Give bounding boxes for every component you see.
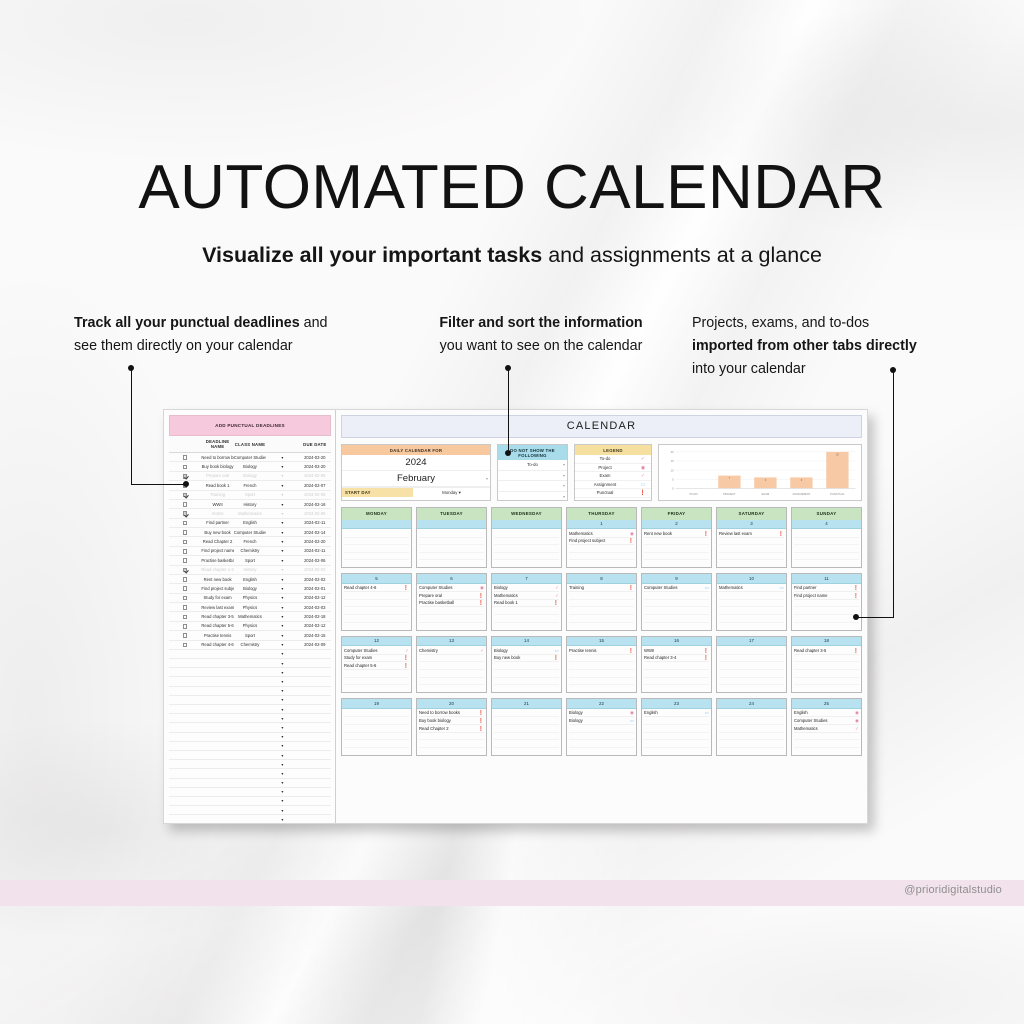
table-row[interactable]: Review last examPhysics▾2024-02-03: [169, 603, 331, 612]
day-cell[interactable]: 12Computer Studies✓Study for exam❗Read c…: [341, 636, 412, 694]
dropdown-icon[interactable]: ▾: [563, 471, 565, 482]
day-cell[interactable]: 23English▭: [641, 698, 712, 756]
row-dropdown-icon[interactable]: ▾: [266, 453, 298, 462]
row-dropdown-icon[interactable]: ▾: [266, 649, 298, 658]
row-dropdown-icon[interactable]: ▾: [266, 481, 298, 490]
row-dropdown-icon[interactable]: ▾: [266, 787, 298, 796]
event-blank[interactable]: [344, 538, 409, 546]
event-text: Computer Studies: [794, 717, 851, 725]
do-not-show-row-1[interactable]: ▾: [498, 471, 567, 482]
table-row-empty[interactable]: ▾: [169, 686, 331, 695]
row-checkbox-cell[interactable]: [169, 499, 201, 508]
event-blank[interactable]: [494, 662, 559, 670]
row-dropdown-icon[interactable]: ▾: [266, 640, 298, 649]
event-blank[interactable]: [494, 607, 559, 615]
row-checkbox-cell[interactable]: [169, 741, 201, 750]
do-not-show-row-2[interactable]: ▾: [498, 481, 567, 492]
table-row[interactable]: Find partnerEnglish▾2024-02-11: [169, 518, 331, 527]
table-row[interactable]: Read chapter 4-6Chemistry▾2024-02-09: [169, 640, 331, 649]
event-blank[interactable]: [419, 662, 484, 670]
table-row[interactable]: Buy new bookComputer Studies▾2024-02-14: [169, 528, 331, 537]
day-cell[interactable]: 22Biology◉Biology▭: [566, 698, 637, 756]
table-row-empty[interactable]: ▾: [169, 659, 331, 668]
event-blank[interactable]: [794, 678, 859, 686]
row-dropdown-icon[interactable]: ▾: [266, 677, 298, 686]
row-dropdown-icon[interactable]: ▾: [266, 806, 298, 815]
event-blank[interactable]: [419, 740, 484, 748]
calendar-event[interactable]: Read chapter 5-6❗: [344, 662, 409, 670]
row-checkbox-cell[interactable]: [169, 778, 201, 787]
row-checkbox-cell[interactable]: [169, 490, 201, 499]
day-cell[interactable]: 7Biology✓Mathematics✓Read book 1❗: [491, 573, 562, 631]
event-blank[interactable]: [419, 670, 484, 678]
row-checkbox-cell[interactable]: [169, 787, 201, 796]
checkbox-icon[interactable]: [183, 643, 188, 648]
event-blank[interactable]: [494, 710, 559, 718]
event-blank[interactable]: [344, 530, 409, 538]
table-row-empty[interactable]: ▾: [169, 714, 331, 723]
event-blank[interactable]: [719, 545, 784, 553]
event-blank[interactable]: [569, 607, 634, 615]
event-blank[interactable]: [644, 592, 709, 600]
event-blank[interactable]: [344, 710, 409, 718]
event-blank[interactable]: [719, 615, 784, 623]
event-blank[interactable]: [344, 615, 409, 623]
day-cell[interactable]: 19: [341, 698, 412, 756]
checkbox-icon[interactable]: [183, 511, 188, 516]
table-row-empty[interactable]: ▾: [169, 787, 331, 796]
table-row[interactable]: Read chapter 3-5Mathematics▾2024-02-18: [169, 612, 331, 621]
daily-year-field[interactable]: 2024: [342, 455, 490, 471]
table-row-empty[interactable]: ▾: [169, 649, 331, 658]
event-blank[interactable]: [719, 655, 784, 663]
day-cell[interactable]: 11Find partner❗Find project name❗: [791, 573, 862, 631]
event-blank[interactable]: [419, 545, 484, 553]
calendar-event[interactable]: Read chapter 3-5❗: [794, 647, 859, 655]
event-blank[interactable]: [494, 740, 559, 748]
row-checkbox-cell[interactable]: [169, 705, 201, 714]
checkbox-icon[interactable]: [183, 577, 188, 582]
row-dropdown-icon[interactable]: ▾: [266, 546, 298, 555]
row-dropdown-icon[interactable]: ▾: [266, 556, 298, 565]
calendar-event[interactable]: Read chapter 4-6❗: [344, 585, 409, 593]
day-cell[interactable]: 21: [491, 698, 562, 756]
event-blank[interactable]: [344, 733, 409, 741]
event-blank[interactable]: [419, 615, 484, 623]
event-blank[interactable]: [344, 670, 409, 678]
checkbox-icon[interactable]: [183, 521, 188, 526]
row-checkbox-cell[interactable]: [169, 649, 201, 658]
dropdown-icon[interactable]: ▾: [563, 492, 565, 502]
event-blank[interactable]: [494, 717, 559, 725]
row-dropdown-icon[interactable]: ▾: [266, 574, 298, 583]
dropdown-icon[interactable]: ▾: [563, 481, 565, 492]
event-blank[interactable]: [719, 538, 784, 546]
checkbox-icon[interactable]: [183, 474, 188, 479]
table-row-empty[interactable]: ▾: [169, 695, 331, 704]
row-dropdown-icon[interactable]: ▾: [266, 565, 298, 574]
event-blank[interactable]: [344, 545, 409, 553]
checkbox-icon[interactable]: [183, 624, 188, 629]
table-row-empty[interactable]: ▾: [169, 815, 331, 824]
row-checkbox-cell[interactable]: [169, 509, 201, 518]
day-cell[interactable]: TUESDAY: [416, 507, 487, 568]
calendar-event[interactable]: Read chapter 3-4❗: [644, 655, 709, 663]
row-dropdown-icon[interactable]: ▾: [266, 686, 298, 695]
table-row-empty[interactable]: ▾: [169, 778, 331, 787]
event-blank[interactable]: [794, 538, 859, 546]
row-dropdown-icon[interactable]: ▾: [266, 528, 298, 537]
table-row[interactable]: Practise basketballSport▾2024-02-06: [169, 556, 331, 565]
event-blank[interactable]: [494, 678, 559, 686]
calendar-event[interactable]: Practise basketball❗: [419, 600, 484, 608]
row-dropdown-icon[interactable]: ▾: [266, 695, 298, 704]
table-row[interactable]: Read chapter 1-2History▾2024-02-02: [169, 565, 331, 574]
table-row-empty[interactable]: ▾: [169, 668, 331, 677]
calendar-event[interactable]: Mathematics▭: [719, 585, 784, 593]
table-row[interactable]: Buy book biologyBiology▾2024-02-20: [169, 462, 331, 471]
checkbox-icon[interactable]: [183, 530, 188, 535]
row-dropdown-icon[interactable]: ▾: [266, 750, 298, 759]
day-cell[interactable]: THURSDAY1Mathematics◉Find project subjec…: [566, 507, 637, 568]
event-blank[interactable]: [719, 740, 784, 748]
day-cell[interactable]: SUNDAY4: [791, 507, 862, 568]
day-cell[interactable]: 25English◉Computer Studies◉Mathematics✓: [791, 698, 862, 756]
event-blank[interactable]: [719, 710, 784, 718]
row-dropdown-icon[interactable]: ▾: [266, 509, 298, 518]
table-row-empty[interactable]: ▾: [169, 806, 331, 815]
checkbox-icon[interactable]: [183, 493, 188, 498]
row-checkbox-cell[interactable]: [169, 760, 201, 769]
table-row-empty[interactable]: ▾: [169, 732, 331, 741]
event-blank[interactable]: [794, 615, 859, 623]
calendar-event[interactable]: Review last exam❗: [719, 530, 784, 538]
month-dropdown-icon[interactable]: ▾: [486, 471, 488, 487]
event-blank[interactable]: [569, 662, 634, 670]
day-cell[interactable]: WEDNESDAY: [491, 507, 562, 568]
row-checkbox-cell[interactable]: [169, 584, 201, 593]
event-blank[interactable]: [719, 607, 784, 615]
table-row[interactable]: AtomsMathematics▾2024-02-05: [169, 509, 331, 518]
checkbox-icon[interactable]: [183, 549, 188, 554]
table-row-empty[interactable]: ▾: [169, 760, 331, 769]
event-blank[interactable]: [794, 733, 859, 741]
event-blank[interactable]: [494, 670, 559, 678]
event-blank[interactable]: [494, 615, 559, 623]
table-row-empty[interactable]: ▾: [169, 723, 331, 732]
event-blank[interactable]: [569, 733, 634, 741]
event-blank[interactable]: [794, 530, 859, 538]
event-blank[interactable]: [344, 725, 409, 733]
calendar-event[interactable]: Find project subject❗: [569, 538, 634, 546]
event-blank[interactable]: [719, 600, 784, 608]
row-checkbox-cell[interactable]: [169, 631, 201, 640]
event-blank[interactable]: [794, 662, 859, 670]
row-due-date: 2024-02-18: [299, 612, 331, 621]
calendar-event[interactable]: Chemistry✓: [419, 647, 484, 655]
event-blank[interactable]: [419, 607, 484, 615]
row-checkbox-cell[interactable]: [169, 453, 201, 462]
day-cell[interactable]: 14Biology▭Buy new book❗: [491, 636, 562, 694]
event-blank[interactable]: [719, 592, 784, 600]
do-not-show-row-0[interactable]: To-do▾: [498, 460, 567, 471]
day-cell[interactable]: 5Read chapter 4-6❗: [341, 573, 412, 631]
row-checkbox-cell[interactable]: [169, 723, 201, 732]
event-blank[interactable]: [644, 662, 709, 670]
row-checkbox-cell[interactable]: [169, 593, 201, 602]
table-row[interactable]: Study for examPhysics▾2024-02-12: [169, 593, 331, 602]
daily-month-field[interactable]: February ▾: [342, 471, 490, 487]
event-blank[interactable]: [494, 545, 559, 553]
table-row-empty[interactable]: ▾: [169, 705, 331, 714]
table-row[interactable]: Find project nameChemistry▾2024-02-11: [169, 546, 331, 555]
day-cell[interactable]: 8Training❗: [566, 573, 637, 631]
calendar-event[interactable]: Practise tennis❗: [569, 647, 634, 655]
event-blank[interactable]: [644, 717, 709, 725]
row-dropdown-icon[interactable]: ▾: [266, 760, 298, 769]
event-blank[interactable]: [644, 553, 709, 561]
event-blank[interactable]: [719, 717, 784, 725]
calendar-event[interactable]: Biology▭: [569, 717, 634, 725]
table-row[interactable]: Rent new bookEnglish▾2024-02-02: [169, 574, 331, 583]
do-not-show-row-3[interactable]: ▾: [498, 492, 567, 502]
calendar-event[interactable]: English▭: [644, 710, 709, 718]
row-dropdown-icon[interactable]: ▾: [266, 631, 298, 640]
event-blank[interactable]: [569, 592, 634, 600]
row-dropdown-icon[interactable]: ▾: [266, 705, 298, 714]
event-blank[interactable]: [494, 733, 559, 741]
table-row-empty[interactable]: ▾: [169, 677, 331, 686]
row-checkbox-cell[interactable]: [169, 612, 201, 621]
row-dropdown-icon[interactable]: ▾: [266, 612, 298, 621]
event-blank[interactable]: [419, 655, 484, 663]
row-checkbox-cell[interactable]: [169, 621, 201, 630]
event-blank[interactable]: [794, 553, 859, 561]
event-blank[interactable]: [569, 553, 634, 561]
row-dropdown-icon[interactable]: ▾: [266, 584, 298, 593]
event-blank[interactable]: [569, 740, 634, 748]
event-blank[interactable]: [569, 678, 634, 686]
checkbox-icon[interactable]: [183, 596, 188, 601]
row-dropdown-icon[interactable]: ▾: [266, 490, 298, 499]
calendar-event[interactable]: Buy new book❗: [494, 655, 559, 663]
event-blank[interactable]: [344, 607, 409, 615]
event-blank[interactable]: [494, 553, 559, 561]
event-blank[interactable]: [569, 655, 634, 663]
row-checkbox-cell[interactable]: [169, 659, 201, 668]
row-checkbox-cell[interactable]: [169, 686, 201, 695]
day-cell[interactable]: 9Computer Studies▭: [641, 573, 712, 631]
table-row[interactable]: Prepare oralBiology▾2024-02-06: [169, 471, 331, 480]
event-blank[interactable]: [644, 615, 709, 623]
row-dropdown-icon[interactable]: ▾: [266, 714, 298, 723]
row-checkbox-cell[interactable]: [169, 796, 201, 805]
checkbox-icon[interactable]: [183, 502, 188, 507]
row-checkbox-cell[interactable]: [169, 769, 201, 778]
event-blank[interactable]: [644, 670, 709, 678]
row-dropdown-icon[interactable]: ▾: [266, 471, 298, 480]
row-checkbox-cell[interactable]: [169, 462, 201, 471]
event-blank[interactable]: [644, 740, 709, 748]
event-blank[interactable]: [644, 600, 709, 608]
day-cell[interactable]: 6Computer Studies◉Prepare oral❗Practise …: [416, 573, 487, 631]
event-blank[interactable]: [494, 530, 559, 538]
event-blank[interactable]: [344, 740, 409, 748]
day-cell[interactable]: 10Mathematics▭: [716, 573, 787, 631]
table-row[interactable]: Need to borrow booksComputer Studies▾202…: [169, 453, 331, 462]
table-row-empty[interactable]: ▾: [169, 750, 331, 759]
calendar-event[interactable]: Read book 1❗: [494, 600, 559, 608]
row-checkbox-cell[interactable]: [169, 732, 201, 741]
day-cell[interactable]: 16WWII❗Read chapter 3-4❗: [641, 636, 712, 694]
table-row-empty[interactable]: ▾: [169, 769, 331, 778]
row-checkbox-cell[interactable]: [169, 806, 201, 815]
day-cell[interactable]: 24: [716, 698, 787, 756]
row-checkbox-cell[interactable]: [169, 574, 201, 583]
row-dropdown-icon[interactable]: ▾: [266, 462, 298, 471]
day-cell[interactable]: FRIDAY2Rent new book❗: [641, 507, 712, 568]
calendar-event[interactable]: Rent new book❗: [644, 530, 709, 538]
event-blank[interactable]: [644, 607, 709, 615]
start-day-value[interactable]: Monday ▾: [413, 488, 490, 497]
checkbox-icon[interactable]: [183, 633, 188, 638]
event-blank[interactable]: [344, 553, 409, 561]
event-blank[interactable]: [644, 545, 709, 553]
row-dropdown-icon[interactable]: ▾: [266, 769, 298, 778]
day-cell[interactable]: 17: [716, 636, 787, 694]
table-row-empty[interactable]: ▾: [169, 741, 331, 750]
event-blank[interactable]: [419, 733, 484, 741]
event-blank[interactable]: [494, 538, 559, 546]
checkbox-icon[interactable]: [183, 558, 188, 563]
calendar-event[interactable]: Computer Studies▭: [644, 585, 709, 593]
event-blank[interactable]: [569, 600, 634, 608]
checkbox-icon[interactable]: [183, 568, 188, 573]
event-blank[interactable]: [419, 530, 484, 538]
row-checkbox-cell[interactable]: [169, 640, 201, 649]
row-dropdown-icon[interactable]: ▾: [266, 499, 298, 508]
row-checkbox-cell[interactable]: [169, 677, 201, 686]
event-blank[interactable]: [569, 615, 634, 623]
checkbox-icon[interactable]: [183, 465, 188, 470]
row-dropdown-icon[interactable]: ▾: [266, 593, 298, 602]
event-blank[interactable]: [644, 725, 709, 733]
row-dropdown-icon[interactable]: ▾: [266, 778, 298, 787]
checkbox-icon[interactable]: [183, 455, 188, 460]
row-dropdown-icon[interactable]: ▾: [266, 741, 298, 750]
event-blank[interactable]: [419, 678, 484, 686]
event-blank[interactable]: [494, 725, 559, 733]
row-dropdown-icon[interactable]: ▾: [266, 668, 298, 677]
event-blank[interactable]: [719, 670, 784, 678]
dropdown-icon[interactable]: ▾: [563, 460, 565, 471]
row-dropdown-icon[interactable]: ▾: [266, 603, 298, 612]
event-blank[interactable]: [569, 725, 634, 733]
table-row-empty[interactable]: ▾: [169, 796, 331, 805]
row-dropdown-icon[interactable]: ▾: [266, 815, 298, 824]
table-row[interactable]: Practise tennisSport▾2024-02-15: [169, 631, 331, 640]
row-checkbox-cell[interactable]: [169, 546, 201, 555]
row-checkbox-cell[interactable]: [169, 518, 201, 527]
checkbox-icon[interactable]: [183, 586, 188, 591]
checkbox-icon[interactable]: [183, 615, 188, 620]
event-blank[interactable]: [794, 740, 859, 748]
event-blank[interactable]: [344, 592, 409, 600]
event-blank[interactable]: [719, 662, 784, 670]
start-day-dropdown-icon[interactable]: ▾: [459, 490, 461, 495]
table-row[interactable]: Read chapter 5-6Physics▾2024-02-12: [169, 621, 331, 630]
calendar-event[interactable]: Find project name❗: [794, 592, 859, 600]
event-blank[interactable]: [794, 655, 859, 663]
row-checkbox-cell[interactable]: [169, 471, 201, 480]
event-blank[interactable]: [794, 545, 859, 553]
row-dropdown-icon[interactable]: ▾: [266, 537, 298, 546]
event-blank[interactable]: [419, 553, 484, 561]
row-checkbox-cell[interactable]: [169, 603, 201, 612]
row-checkbox-cell[interactable]: [169, 815, 201, 824]
event-blank[interactable]: [569, 545, 634, 553]
row-checkbox-cell[interactable]: [169, 556, 201, 565]
row-checkbox-cell[interactable]: [169, 565, 201, 574]
event-blank[interactable]: [644, 538, 709, 546]
event-blank[interactable]: [719, 647, 784, 655]
event-blank[interactable]: [794, 600, 859, 608]
day-cell[interactable]: 13Chemistry✓: [416, 636, 487, 694]
event-blank[interactable]: [344, 600, 409, 608]
checkbox-icon[interactable]: [183, 605, 188, 610]
row-dropdown-icon[interactable]: ▾: [266, 796, 298, 805]
event-blank[interactable]: [644, 678, 709, 686]
row-checkbox-cell[interactable]: [169, 537, 201, 546]
event-blank[interactable]: [569, 670, 634, 678]
row-dropdown-icon[interactable]: ▾: [266, 518, 298, 527]
event-blank[interactable]: [719, 678, 784, 686]
event-blank[interactable]: [719, 725, 784, 733]
table-row[interactable]: Read Chapter 2French▾2024-02-20: [169, 537, 331, 546]
calendar-event[interactable]: Read Chapter 2❗: [419, 725, 484, 733]
row-dropdown-icon[interactable]: ▾: [266, 659, 298, 668]
day-cell[interactable]: 15Practise tennis❗: [566, 636, 637, 694]
row-dropdown-icon[interactable]: ▾: [266, 723, 298, 732]
row-checkbox-cell[interactable]: [169, 668, 201, 677]
table-row[interactable]: Read book 1French▾2024-02-07: [169, 481, 331, 490]
event-blank[interactable]: [794, 607, 859, 615]
table-row[interactable]: TrainingSport▾2024-02-08: [169, 490, 331, 499]
row-checkbox-cell[interactable]: [169, 750, 201, 759]
checkbox-icon[interactable]: [183, 540, 188, 545]
table-row[interactable]: WWIIHistory▾2024-02-16: [169, 499, 331, 508]
row-checkbox-cell[interactable]: [169, 695, 201, 704]
event-blank[interactable]: [419, 538, 484, 546]
row-checkbox-cell[interactable]: [169, 714, 201, 723]
event-blank[interactable]: [719, 733, 784, 741]
calendar-event[interactable]: Mathematics✓: [794, 725, 859, 733]
event-blank[interactable]: [344, 678, 409, 686]
day-cell[interactable]: SATURDAY3Review last exam❗: [716, 507, 787, 568]
event-blank[interactable]: [644, 733, 709, 741]
day-cell[interactable]: 18Read chapter 3-5❗: [791, 636, 862, 694]
day-cell[interactable]: 20Need to borrow books❗Buy book biology❗…: [416, 698, 487, 756]
event-blank[interactable]: [344, 717, 409, 725]
row-checkbox-cell[interactable]: [169, 528, 201, 537]
row-dropdown-icon[interactable]: ▾: [266, 621, 298, 630]
day-cell[interactable]: MONDAY: [341, 507, 412, 568]
event-blank[interactable]: [794, 670, 859, 678]
calendar-event[interactable]: Training❗: [569, 585, 634, 593]
row-dropdown-icon[interactable]: ▾: [266, 732, 298, 741]
table-row[interactable]: Find project subjectBiology▾2024-02-01: [169, 584, 331, 593]
event-blank[interactable]: [719, 553, 784, 561]
